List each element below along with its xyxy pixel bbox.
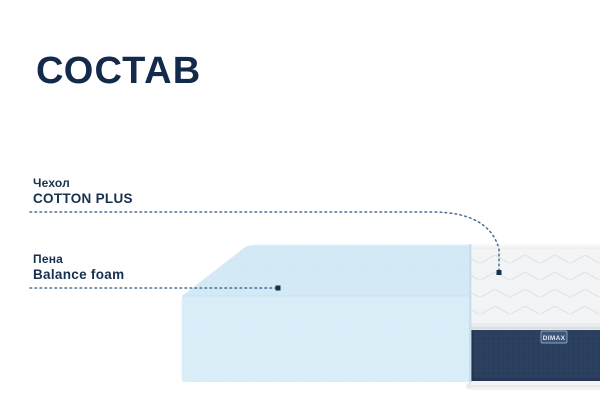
leader-dot-foam	[276, 286, 281, 291]
composition-infographic: СОСТАВ Чехол COTTON PLUS Пена Balance fo…	[0, 0, 600, 420]
mattress-illustration: DIMAX DIMAX	[0, 0, 600, 420]
brand-badge-text-front: DIMAX	[543, 335, 566, 342]
leader-dot-cover	[497, 270, 502, 275]
mattress-overlap-mask: DIMAX	[469, 244, 600, 385]
